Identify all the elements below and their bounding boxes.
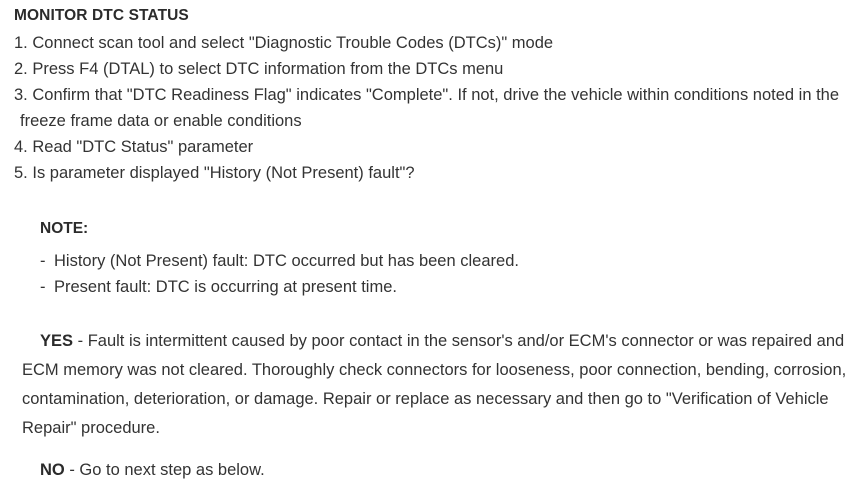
- step-text: Confirm that "DTC Readiness Flag" indica…: [20, 86, 839, 130]
- answer-no-paragraph: NO - Go to next step as below.: [0, 457, 858, 483]
- answer-yes-keyword: YES: [40, 332, 73, 350]
- step-number: 1.: [14, 34, 28, 52]
- document-page: MONITOR DTC STATUS 1. Connect scan tool …: [0, 0, 858, 497]
- note-heading: NOTE:: [40, 218, 858, 240]
- page-title: MONITOR DTC STATUS: [14, 5, 189, 26]
- procedure-step: 3. Confirm that "DTC Readiness Flag" ind…: [0, 82, 858, 134]
- procedure-step: 2. Press F4 (DTAL) to select DTC informa…: [0, 56, 858, 82]
- note-item: - Present fault: DTC is occurring at pre…: [40, 274, 858, 300]
- answer-yes-paragraph: YES - Fault is intermittent caused by po…: [0, 327, 858, 443]
- note-block: NOTE: - History (Not Present) fault: DTC…: [0, 218, 858, 300]
- procedure-step: 5. Is parameter displayed "History (Not …: [0, 160, 858, 186]
- answer-no-text: - Go to next step as below.: [65, 461, 265, 479]
- procedure-step: 4. Read "DTC Status" parameter: [0, 134, 858, 160]
- step-text: Connect scan tool and select "Diagnostic…: [32, 34, 553, 52]
- step-number: 3.: [14, 86, 28, 104]
- procedure-step-list: 1. Connect scan tool and select "Diagnos…: [0, 30, 858, 186]
- dash-bullet-icon: -: [40, 274, 46, 300]
- procedure-step: 1. Connect scan tool and select "Diagnos…: [0, 30, 858, 56]
- step-text: Is parameter displayed "History (Not Pre…: [32, 164, 414, 182]
- step-number: 5.: [14, 164, 28, 182]
- note-item: - History (Not Present) fault: DTC occur…: [40, 248, 858, 274]
- note-item-text: History (Not Present) fault: DTC occurre…: [54, 252, 519, 270]
- dash-bullet-icon: -: [40, 248, 46, 274]
- step-text: Press F4 (DTAL) to select DTC informatio…: [32, 60, 503, 78]
- answer-yes-text: - Fault is intermittent caused by poor c…: [22, 332, 846, 437]
- step-number: 2.: [14, 60, 28, 78]
- answer-no-keyword: NO: [40, 461, 65, 479]
- note-item-text: Present fault: DTC is occurring at prese…: [54, 278, 397, 296]
- step-text: Read "DTC Status" parameter: [32, 138, 253, 156]
- step-number: 4.: [14, 138, 28, 156]
- note-item-list: - History (Not Present) fault: DTC occur…: [0, 248, 858, 300]
